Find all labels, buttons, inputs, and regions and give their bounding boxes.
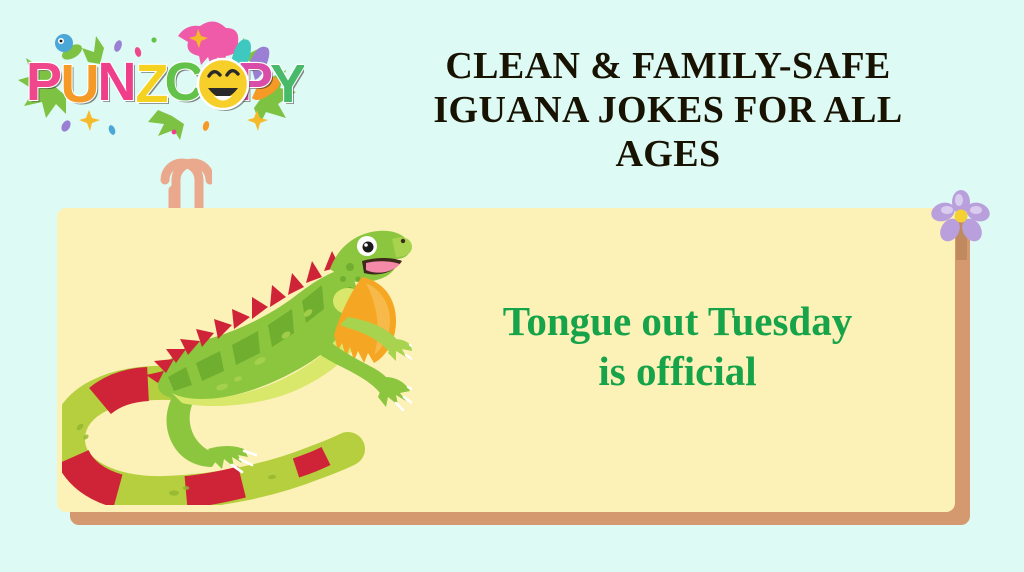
- flower-center: [955, 210, 968, 223]
- joke-text: Tongue out Tuesday is official: [425, 296, 930, 396]
- svg-text:N: N: [98, 52, 137, 112]
- svg-text:Y: Y: [270, 54, 304, 114]
- iguana-tongue: [366, 261, 400, 272]
- iguana-body: [158, 267, 362, 406]
- svg-text:U: U: [61, 54, 100, 114]
- flower-icon: [930, 190, 992, 260]
- logo-artwork: P U N Z C P Y P U N Z C P Y: [8, 18, 304, 146]
- logo-wordmark: P U N Z C P Y P U N Z C P Y: [26, 52, 304, 116]
- iguana-eye: [357, 236, 377, 256]
- joke-line-1: Tongue out Tuesday: [425, 296, 930, 346]
- page-title-line-1: CLEAN & FAMILY-SAFE: [368, 44, 968, 88]
- laughing-face-icon: [198, 59, 250, 111]
- poster-canvas: P U N Z C P Y P U N Z C P Y: [0, 0, 1024, 572]
- svg-text:P: P: [26, 52, 62, 112]
- page-title-line-3: AGES: [368, 132, 968, 176]
- page-title: CLEAN & FAMILY-SAFE IGUANA JOKES FOR ALL…: [368, 44, 968, 176]
- logo-blue-blob: [55, 34, 73, 52]
- page-title-line-2: IGUANA JOKES FOR ALL: [368, 88, 968, 132]
- joke-line-2: is official: [425, 346, 930, 396]
- punzcopy-logo[interactable]: P U N Z C P Y P U N Z C P Y: [8, 18, 304, 146]
- iguana-illustration: [62, 205, 412, 505]
